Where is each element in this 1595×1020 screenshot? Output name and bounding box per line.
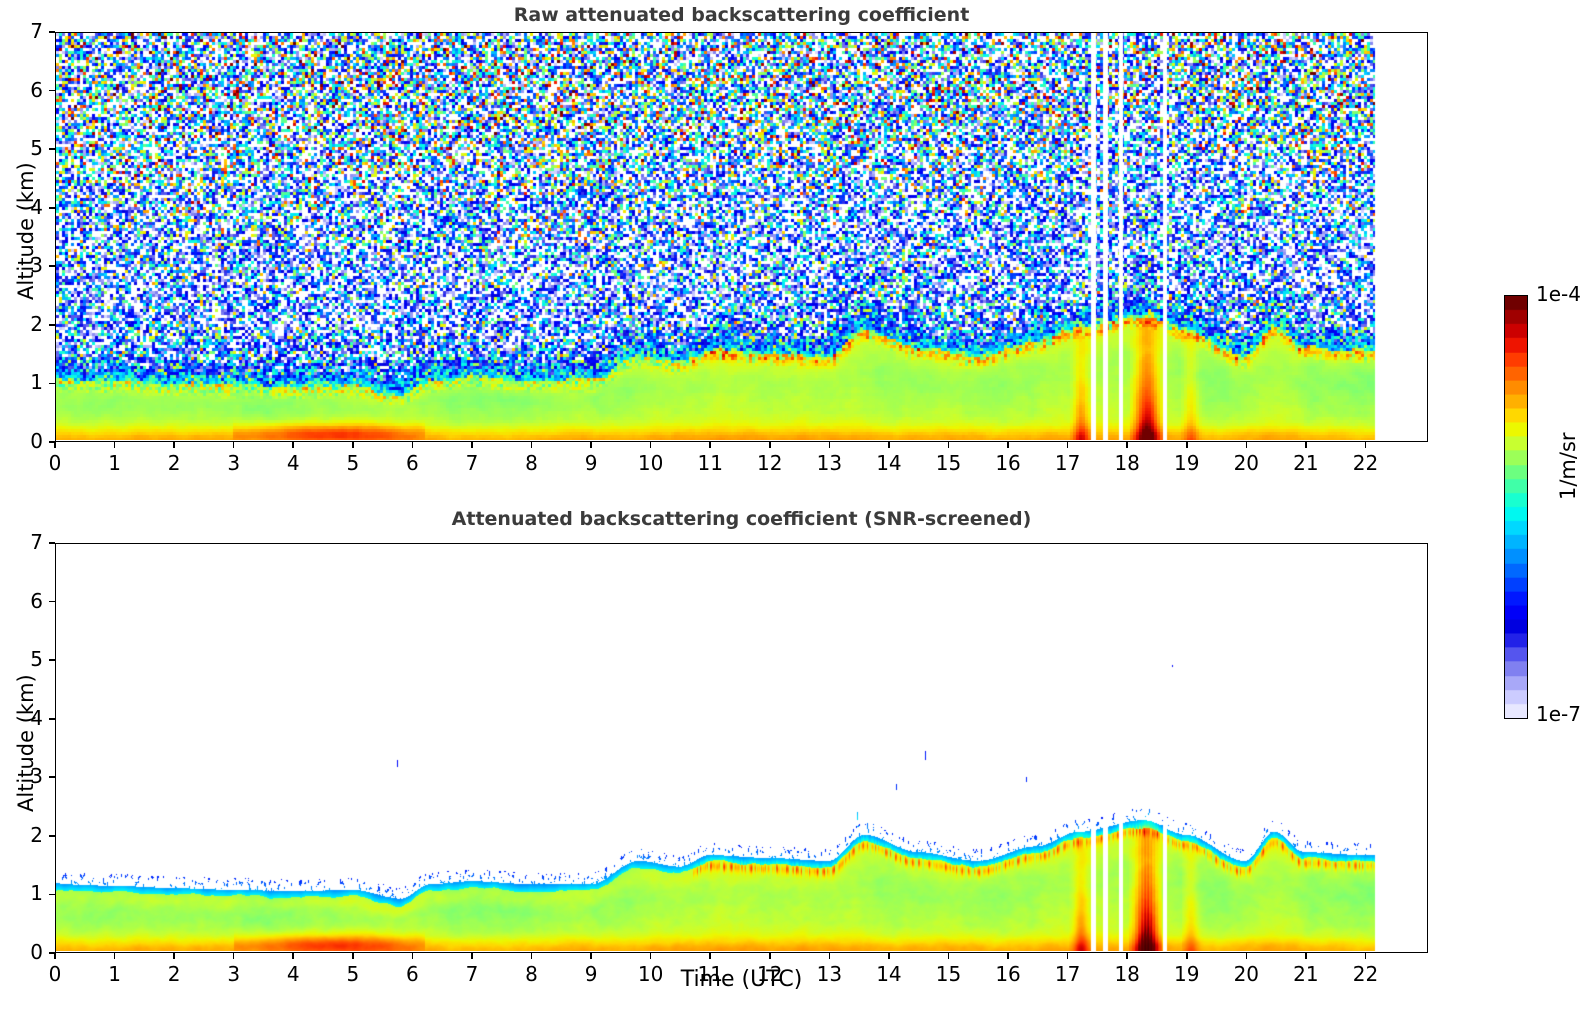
x-tick-label: 3	[214, 451, 254, 475]
x-tickmark	[888, 442, 890, 448]
x-tickmark	[173, 442, 175, 448]
x-tick-label: 21	[1286, 962, 1326, 986]
x-tickmark	[114, 953, 116, 959]
y-tick-label: 4	[13, 706, 43, 730]
y-axis-label-raw: Altitude (km)	[14, 162, 38, 300]
figure-root: Raw attenuated backscattering coefficien…	[0, 0, 1595, 1020]
x-tickmark	[709, 953, 711, 959]
x-tick-label: 21	[1286, 451, 1326, 475]
x-tickmark	[471, 953, 473, 959]
colorbar-min-label: 1e-7	[1536, 702, 1581, 726]
heatmap-canvas-raw	[56, 33, 1426, 440]
x-tickmark	[1067, 442, 1069, 448]
y-tick-label: 1	[13, 370, 43, 394]
x-tick-label: 15	[928, 451, 968, 475]
y-tick-label: 3	[13, 764, 43, 788]
y-tick-label: 0	[13, 429, 43, 453]
x-tick-label: 22	[1345, 962, 1385, 986]
x-tick-label: 17	[1048, 962, 1088, 986]
x-tickmark	[531, 953, 533, 959]
x-tick-label: 19	[1167, 451, 1207, 475]
y-tickmark	[49, 776, 55, 778]
x-tick-label: 9	[571, 962, 611, 986]
x-tick-label: 13	[809, 451, 849, 475]
x-tick-label: 10	[631, 962, 671, 986]
x-tickmark	[173, 953, 175, 959]
x-tick-label: 3	[214, 962, 254, 986]
x-tick-label: 2	[154, 451, 194, 475]
x-tickmark	[650, 953, 652, 959]
x-tickmark	[1186, 953, 1188, 959]
y-tick-label: 0	[13, 940, 43, 964]
y-tick-label: 2	[13, 312, 43, 336]
x-tick-label: 11	[690, 451, 730, 475]
x-tick-label: 18	[1107, 451, 1147, 475]
y-tick-label: 6	[13, 78, 43, 102]
x-tick-label: 8	[512, 962, 552, 986]
plot-area-screened[interactable]	[55, 543, 1428, 953]
x-tickmark	[1186, 442, 1188, 448]
x-tick-label: 4	[273, 962, 313, 986]
x-tickmark	[1007, 442, 1009, 448]
x-tickmark	[292, 953, 294, 959]
y-tickmark	[49, 265, 55, 267]
x-tickmark	[54, 953, 56, 959]
x-tick-label: 11	[690, 962, 730, 986]
x-tickmark	[1007, 953, 1009, 959]
x-tick-label: 12	[750, 451, 790, 475]
y-tickmark	[49, 90, 55, 92]
x-tick-label: 18	[1107, 962, 1147, 986]
x-tick-label: 1	[95, 451, 135, 475]
x-tick-label: 16	[988, 962, 1028, 986]
x-tickmark	[1365, 442, 1367, 448]
x-tickmark	[829, 953, 831, 959]
x-tickmark	[1067, 953, 1069, 959]
x-tick-label: 8	[512, 451, 552, 475]
x-tickmark	[829, 442, 831, 448]
colorbar-max-label: 1e-4	[1536, 282, 1581, 306]
x-tick-label: 0	[35, 962, 75, 986]
x-tick-label: 1	[95, 962, 135, 986]
x-tickmark	[590, 442, 592, 448]
y-tickmark	[49, 659, 55, 661]
x-tick-label: 9	[571, 451, 611, 475]
x-tickmark	[412, 442, 414, 448]
x-tick-label: 17	[1048, 451, 1088, 475]
x-tickmark	[769, 442, 771, 448]
x-tickmark	[590, 953, 592, 959]
x-tickmark	[948, 442, 950, 448]
x-tick-label: 19	[1167, 962, 1207, 986]
plot-area-raw[interactable]	[55, 32, 1428, 442]
y-tickmark	[49, 207, 55, 209]
x-tick-label: 14	[869, 962, 909, 986]
x-tickmark	[1126, 953, 1128, 959]
x-tickmark	[1365, 953, 1367, 959]
x-tickmark	[948, 953, 950, 959]
x-tick-label: 0	[35, 451, 75, 475]
heatmap-canvas-screened	[56, 544, 1426, 951]
x-tickmark	[769, 953, 771, 959]
y-tickmark	[49, 718, 55, 720]
y-tick-label: 4	[13, 195, 43, 219]
x-tick-label: 7	[452, 962, 492, 986]
y-tick-label: 3	[13, 253, 43, 277]
x-tickmark	[1246, 442, 1248, 448]
y-tickmark	[49, 894, 55, 896]
x-tickmark	[888, 953, 890, 959]
y-tick-label: 7	[13, 19, 43, 43]
y-tick-label: 2	[13, 823, 43, 847]
x-tick-label: 12	[750, 962, 790, 986]
x-axis-label: Time (UTC)	[55, 967, 1428, 992]
x-tick-label: 22	[1345, 451, 1385, 475]
colorbar[interactable]: 1e-4 1e-7	[1504, 295, 1528, 719]
x-tickmark	[1246, 953, 1248, 959]
y-tick-label: 5	[13, 136, 43, 160]
y-axis-label-screened: Altitude (km)	[14, 674, 38, 812]
x-tick-label: 4	[273, 451, 313, 475]
y-tickmark	[49, 324, 55, 326]
y-tick-label: 5	[13, 647, 43, 671]
x-tick-label: 5	[333, 451, 373, 475]
x-tickmark	[352, 953, 354, 959]
y-tick-label: 6	[13, 589, 43, 613]
y-tick-label: 7	[13, 530, 43, 554]
x-tickmark	[1305, 442, 1307, 448]
x-tickmark	[233, 953, 235, 959]
x-tickmark	[412, 953, 414, 959]
colorbar-unit-label: 1/m/sr	[1556, 432, 1580, 500]
x-tickmark	[531, 442, 533, 448]
x-tickmark	[709, 442, 711, 448]
x-tickmark	[114, 442, 116, 448]
y-tickmark	[49, 835, 55, 837]
x-tickmark	[54, 442, 56, 448]
x-tick-label: 6	[392, 451, 432, 475]
panel-title-screened: Attenuated backscattering coefficient (S…	[55, 508, 1428, 530]
x-tick-label: 14	[869, 451, 909, 475]
x-tickmark	[471, 442, 473, 448]
x-tickmark	[1126, 442, 1128, 448]
x-tickmark	[650, 442, 652, 448]
x-tickmark	[352, 442, 354, 448]
y-tick-label: 1	[13, 881, 43, 905]
x-tickmark	[233, 442, 235, 448]
x-tickmark	[1305, 953, 1307, 959]
y-tickmark	[49, 542, 55, 544]
x-tick-label: 6	[392, 962, 432, 986]
x-tick-label: 20	[1226, 962, 1266, 986]
x-tick-label: 16	[988, 451, 1028, 475]
y-tickmark	[49, 148, 55, 150]
panel-title-raw: Raw attenuated backscattering coefficien…	[55, 4, 1428, 26]
colorbar-gradient	[1504, 295, 1528, 719]
x-tick-label: 15	[928, 962, 968, 986]
y-tickmark	[49, 601, 55, 603]
x-tick-label: 10	[631, 451, 671, 475]
y-tickmark	[49, 383, 55, 385]
y-tickmark	[49, 31, 55, 33]
x-tick-label: 20	[1226, 451, 1266, 475]
x-tick-label: 2	[154, 962, 194, 986]
x-tick-label: 7	[452, 451, 492, 475]
x-tickmark	[292, 442, 294, 448]
x-tick-label: 5	[333, 962, 373, 986]
x-tick-label: 13	[809, 962, 849, 986]
